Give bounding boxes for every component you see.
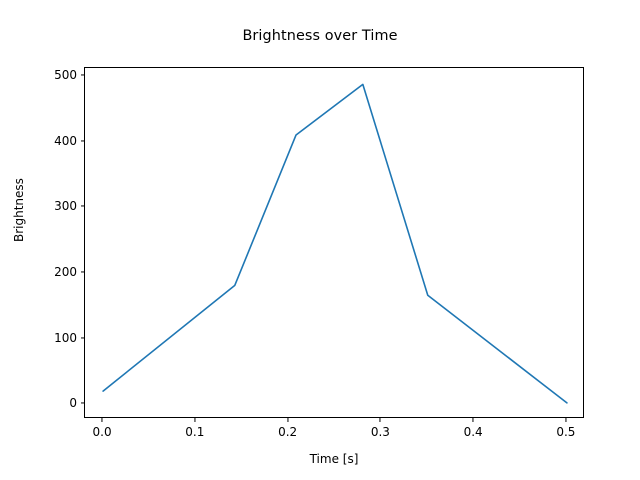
y-tick-mark <box>81 206 85 207</box>
x-tick-label: 0.1 <box>185 425 204 439</box>
x-tick-label: 0.3 <box>371 425 390 439</box>
x-tick-label: 0.2 <box>278 425 297 439</box>
x-tick-label: 0.4 <box>464 425 483 439</box>
x-axis-tick-labels: 0.00.10.20.30.40.5 <box>0 0 640 480</box>
y-tick-mark <box>81 74 85 75</box>
figure-canvas: Brightness over Time 0100200300400500 0.… <box>0 0 640 480</box>
x-tick-mark <box>473 418 474 422</box>
y-tick-mark <box>81 271 85 272</box>
y-tick-mark <box>81 337 85 338</box>
y-axis-label: Brightness <box>12 178 26 242</box>
y-tick-mark <box>81 140 85 141</box>
x-axis-label: Time [s] <box>84 452 584 466</box>
x-tick-mark <box>194 418 195 422</box>
y-tick-mark <box>81 403 85 404</box>
x-tick-mark <box>102 418 103 422</box>
x-tick-mark <box>380 418 381 422</box>
x-tick-mark <box>287 418 288 422</box>
x-tick-label: 0.5 <box>556 425 575 439</box>
x-tick-label: 0.0 <box>93 425 112 439</box>
x-tick-mark <box>565 418 566 422</box>
